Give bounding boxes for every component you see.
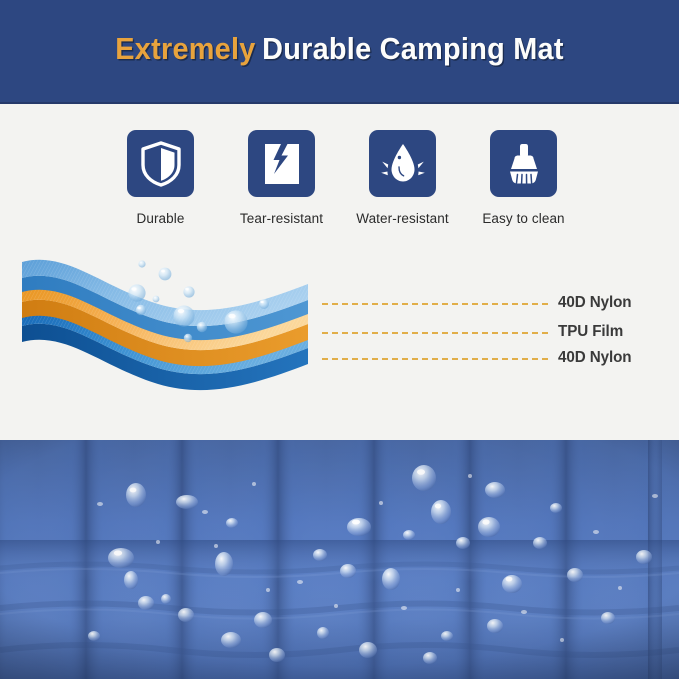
feature-item-water-resistant: Water-resistant — [350, 130, 455, 226]
camping-mat-photo-illustration — [0, 440, 679, 679]
leader-line-bottom — [322, 358, 548, 360]
layer-label-top: 40D Nylon — [558, 294, 631, 312]
feature-tile — [248, 130, 315, 197]
page-title-rest: Durable Camping Mat — [262, 31, 564, 67]
layer-label-middle: TPU Film — [558, 323, 623, 341]
header-band: ExtremelyDurable Camping Mat — [0, 0, 679, 104]
infographic-page: ExtremelyDurable Camping Mat Durable — [0, 0, 679, 679]
feature-tile — [127, 130, 194, 197]
tear-paper-icon — [261, 141, 303, 187]
water-drop-icon — [379, 141, 427, 187]
feature-label: Durable — [137, 211, 185, 226]
feature-tile — [490, 130, 557, 197]
feature-item-durable: Durable — [108, 130, 213, 226]
feature-item-tear-resistant: Tear-resistant — [229, 130, 334, 226]
feature-item-easy-to-clean: Easy to clean — [471, 130, 576, 226]
feature-label: Easy to clean — [482, 211, 564, 226]
leader-line-middle — [322, 332, 548, 334]
layer-label-bottom: 40D Nylon — [558, 349, 631, 367]
feature-tile — [369, 130, 436, 197]
content-panel: Durable Tear-resistant — [0, 104, 679, 440]
feature-row: Durable Tear-resistant — [108, 130, 576, 226]
feature-label: Water-resistant — [356, 211, 449, 226]
layer-stack-illustration — [8, 252, 348, 430]
shield-icon — [139, 141, 183, 187]
brush-icon — [501, 141, 547, 187]
feature-label: Tear-resistant — [240, 211, 323, 226]
page-title: ExtremelyDurable Camping Mat — [24, 31, 655, 67]
leader-line-top — [322, 303, 548, 305]
layer-diagram — [8, 252, 348, 430]
product-photo — [0, 440, 679, 679]
page-title-accent: Extremely — [115, 31, 255, 67]
